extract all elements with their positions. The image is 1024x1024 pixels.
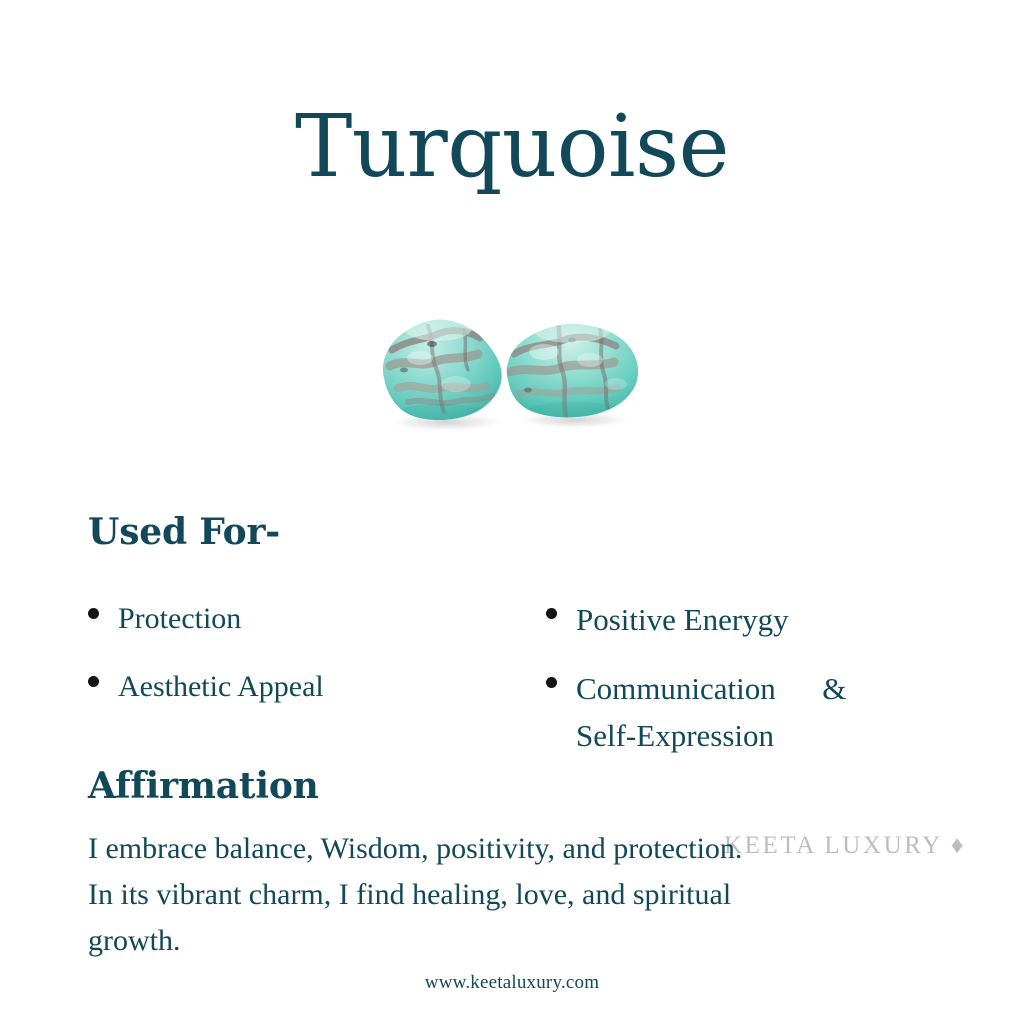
used-for-heading: Used For- (88, 514, 280, 550)
list-item-label: Communication & Self-Expression (576, 665, 846, 759)
list-item: Positive Enerygy (546, 596, 966, 643)
page-title: Turquoise (0, 104, 1024, 190)
list-item-label: Protection (118, 596, 241, 642)
used-for-column-right: Positive Enerygy Communication & Self-Ex… (546, 596, 966, 781)
bullet-icon (546, 608, 557, 619)
affirmation-heading: Affirmation (88, 768, 319, 804)
stone-illustration-svg (368, 296, 658, 442)
turquoise-stones-image (368, 296, 658, 442)
affirmation-body-text: I embrace balance, Wisdom, positivity, a… (88, 826, 918, 964)
list-item: Communication & Self-Expression (546, 665, 966, 759)
footer-website-url: www.keetaluxury.com (0, 972, 1024, 994)
list-item-label: Positive Enerygy (576, 596, 789, 643)
list-item-label: Aesthetic Appeal (118, 664, 324, 710)
poster-canvas: Turquoise (0, 0, 1024, 1024)
bullet-icon (88, 608, 99, 619)
bullet-icon (88, 676, 99, 687)
used-for-column-left: Protection Aesthetic Appeal (88, 596, 518, 731)
list-item: Protection (88, 596, 518, 642)
bullet-icon (546, 677, 557, 688)
list-item: Aesthetic Appeal (88, 664, 518, 710)
used-for-list: Protection Aesthetic Appeal Positive Ene… (0, 596, 1024, 766)
